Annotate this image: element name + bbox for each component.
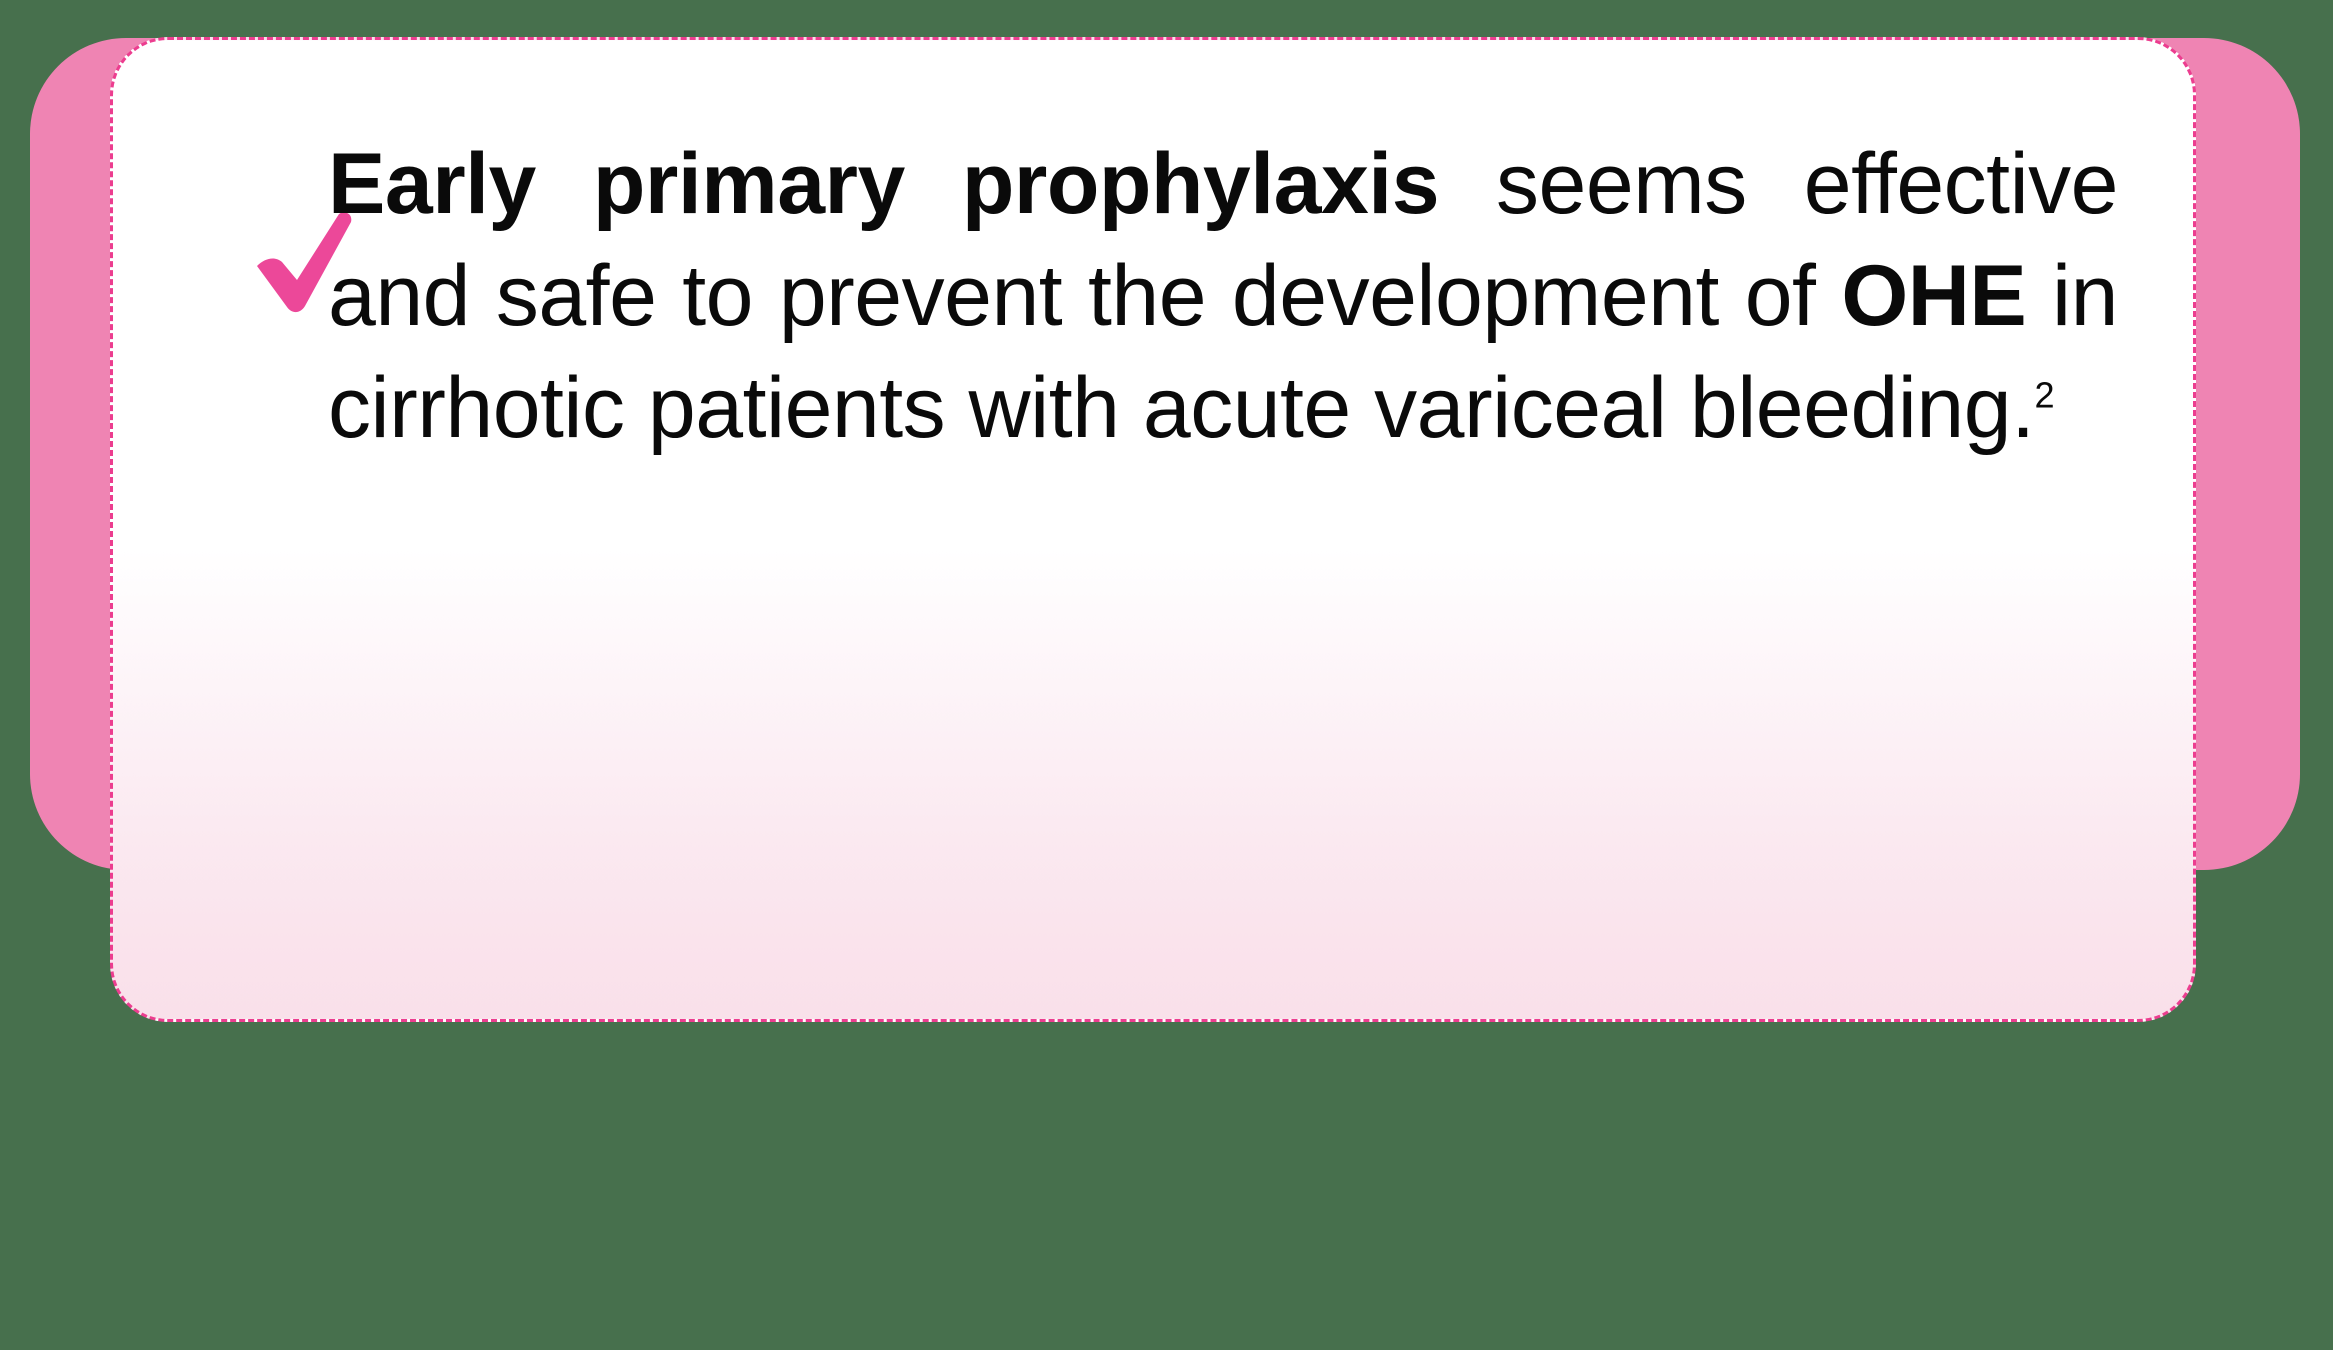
callout-bold-term: OHE: [1841, 248, 2026, 344]
citation-superscript: 2: [2034, 374, 2054, 415]
callout-card-inner: Early primary prophylaxis seems effectiv…: [113, 40, 2193, 1019]
slide-canvas: Early primary prophylaxis seems effectiv…: [0, 0, 2333, 1350]
callout-card: Early primary prophylaxis seems effectiv…: [110, 37, 2196, 1022]
callout-bold-lead: Early primary prophylaxis: [328, 136, 1439, 232]
callout-text: Early primary prophylaxis seems effectiv…: [328, 128, 2118, 464]
